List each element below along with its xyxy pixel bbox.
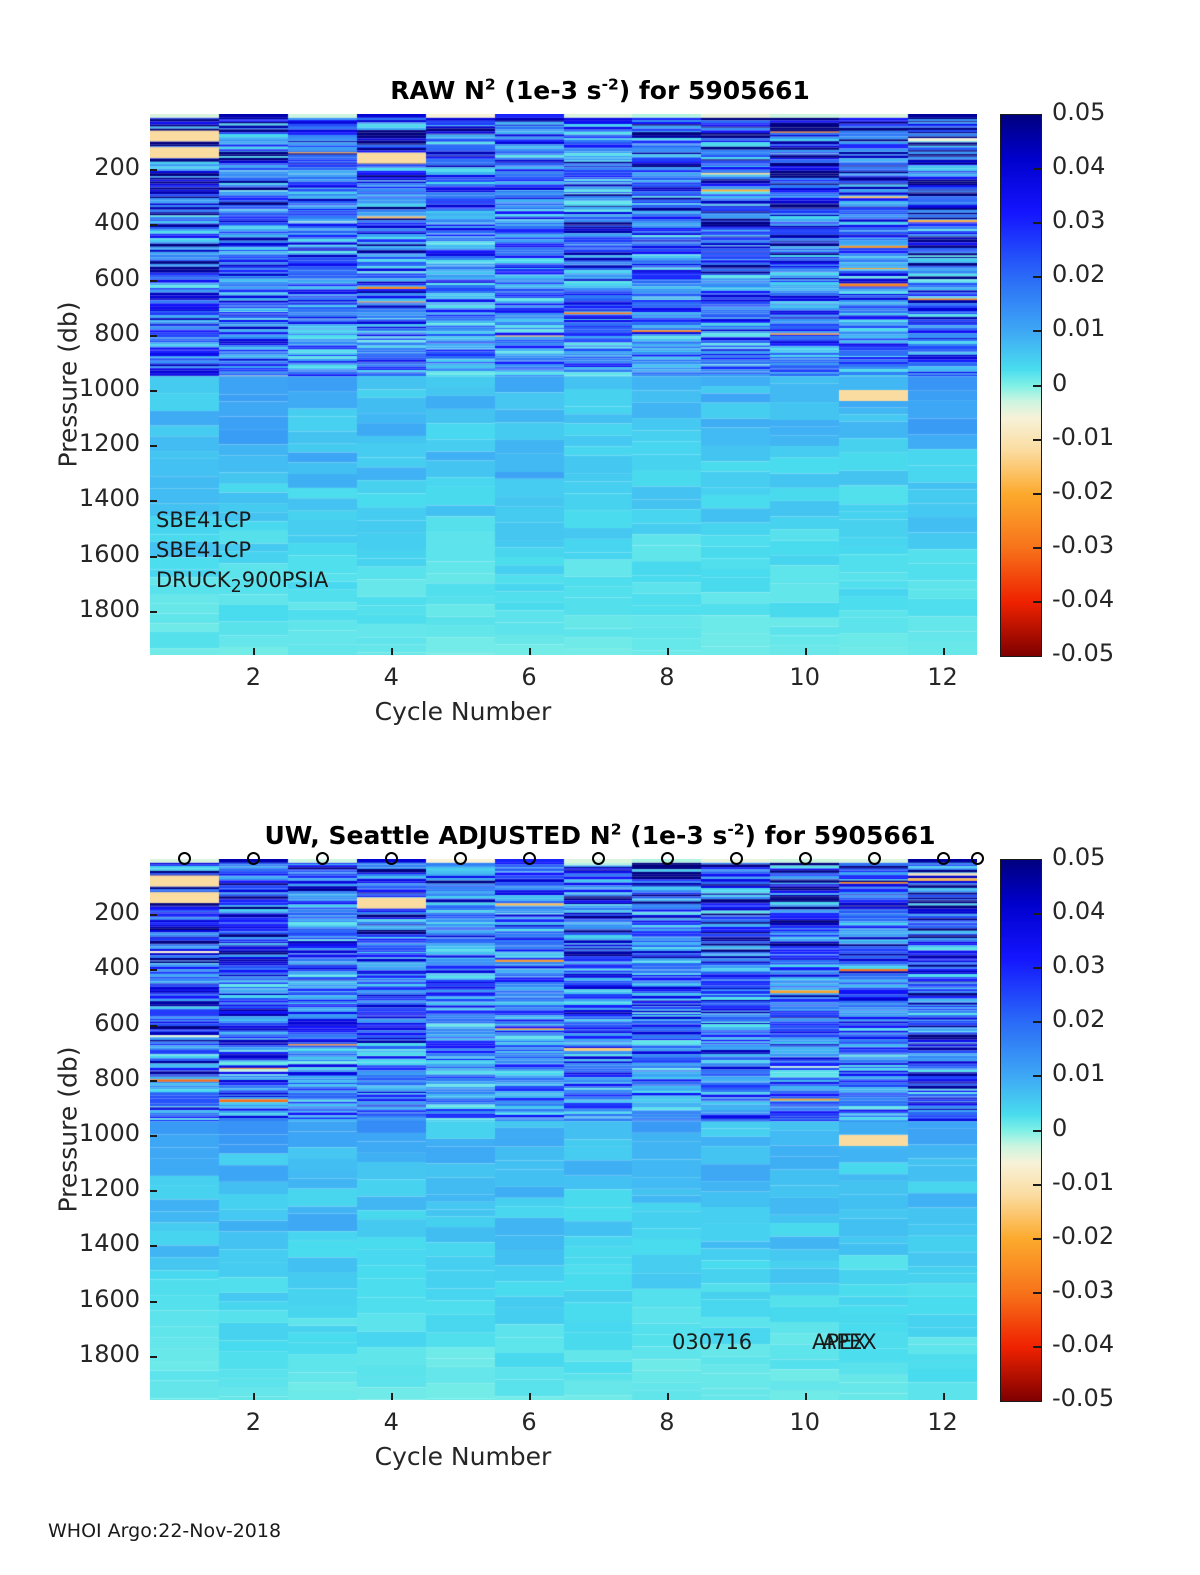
ytick-mark bbox=[150, 280, 157, 282]
ytick-mark bbox=[150, 1301, 157, 1303]
colorbar-tick-mark bbox=[1033, 1021, 1041, 1023]
colorbar-tick-label: -0.03 bbox=[1052, 531, 1114, 559]
colorbar-tick-mark bbox=[1033, 547, 1041, 549]
cycle-marker-icon bbox=[523, 852, 536, 865]
colorbar-tick-label: 0.01 bbox=[1052, 314, 1105, 342]
cycle-marker-icon bbox=[316, 852, 329, 865]
ytick-label: 1400 bbox=[2, 484, 140, 512]
colorbar-tick-label: -0.04 bbox=[1052, 585, 1114, 613]
title-main: ADJUSTED N bbox=[438, 821, 610, 850]
ytick-mark bbox=[150, 969, 157, 971]
colorbar-tick-mark bbox=[1033, 222, 1041, 224]
ytick-mark bbox=[150, 169, 157, 171]
cycle-marker-icon bbox=[247, 852, 260, 865]
colorbar-tick-label: -0.04 bbox=[1052, 1330, 1114, 1358]
title-superscript-neg2: -2 bbox=[727, 821, 744, 839]
colorbar-tick-mark bbox=[1033, 967, 1041, 969]
title-prefix: UW, Seattle bbox=[264, 821, 438, 850]
colorbar-tick-mark bbox=[1033, 1130, 1041, 1132]
ytick-mark bbox=[150, 1245, 157, 1247]
ytick-mark bbox=[150, 390, 157, 392]
ytick-mark bbox=[150, 500, 157, 502]
cycle-marker-icon bbox=[592, 852, 605, 865]
cycle-marker-icon bbox=[730, 852, 743, 865]
colorbar-tick-mark bbox=[1033, 493, 1041, 495]
ytick-label: 1200 bbox=[2, 1174, 140, 1202]
ytick-mark bbox=[150, 224, 157, 226]
ytick-label: 400 bbox=[2, 208, 140, 236]
xtick-mark bbox=[667, 1393, 669, 1400]
ytick-mark bbox=[150, 1025, 157, 1027]
cycle-markers-adjusted bbox=[150, 852, 977, 868]
cycle-marker-icon bbox=[178, 852, 191, 865]
xtick-label: 6 bbox=[489, 663, 569, 691]
xtick-label: 8 bbox=[627, 1408, 707, 1436]
ytick-label: 800 bbox=[2, 1064, 140, 1092]
ytick-mark bbox=[150, 335, 157, 337]
title-suffix: ) for 5905661 bbox=[619, 76, 810, 105]
title-superscript-neg2: -2 bbox=[602, 76, 619, 94]
colorbar-tick-label: 0 bbox=[1052, 369, 1067, 397]
sensor-label-1: SBE41CP bbox=[156, 505, 328, 535]
ytick-label: 600 bbox=[2, 264, 140, 292]
xtick-label: 2 bbox=[213, 1408, 293, 1436]
title-main: RAW N bbox=[390, 76, 485, 105]
colorbar-tick-mark bbox=[1033, 276, 1041, 278]
title-mid: (1e-3 s bbox=[621, 821, 727, 850]
colorbar-tick-label: -0.05 bbox=[1052, 1384, 1114, 1412]
cycle-marker-icon bbox=[971, 852, 984, 865]
panel-raw-sensor-annotations: SBE41CP SBE41CP DRUCK2900PSIA bbox=[156, 505, 328, 602]
ytick-mark bbox=[150, 1190, 157, 1192]
xtick-mark bbox=[943, 1393, 945, 1400]
colorbar-tick-label: -0.02 bbox=[1052, 1222, 1114, 1250]
ytick-mark bbox=[150, 914, 157, 916]
xtick-mark bbox=[391, 648, 393, 655]
xtick-mark bbox=[529, 648, 531, 655]
colorbar-tick-mark bbox=[1033, 168, 1041, 170]
title-mid: (1e-3 s bbox=[496, 76, 602, 105]
title-superscript-2: 2 bbox=[611, 821, 622, 839]
cycle-marker-icon bbox=[799, 852, 812, 865]
colorbar-tick-mark bbox=[1033, 1292, 1041, 1294]
cycle-marker-icon bbox=[661, 852, 674, 865]
ytick-label: 1000 bbox=[2, 1119, 140, 1147]
xtick-label: 12 bbox=[903, 1408, 983, 1436]
colorbar-tick-label: 0.05 bbox=[1052, 98, 1105, 126]
xtick-mark bbox=[805, 648, 807, 655]
colorbar-tick-label: 0.01 bbox=[1052, 1059, 1105, 1087]
xtick-mark bbox=[805, 1393, 807, 1400]
ytick-mark bbox=[150, 445, 157, 447]
title-suffix: ) for 5905661 bbox=[745, 821, 936, 850]
cycle-marker-icon bbox=[868, 852, 881, 865]
colorbar-tick-label: 0.04 bbox=[1052, 897, 1105, 925]
colorbar-tick-mark bbox=[1033, 385, 1041, 387]
annotation-wmo-date: 030716 bbox=[672, 1330, 752, 1354]
colorbar-tick-mark bbox=[1033, 1184, 1041, 1186]
ytick-mark bbox=[150, 1135, 157, 1137]
xtick-mark bbox=[943, 648, 945, 655]
xtick-label: 8 bbox=[627, 663, 707, 691]
ytick-mark bbox=[150, 1080, 157, 1082]
colorbar-tick-mark bbox=[1033, 913, 1041, 915]
ytick-label: 1200 bbox=[2, 429, 140, 457]
colorbar-tick-label: -0.01 bbox=[1052, 423, 1114, 451]
xtick-label: 4 bbox=[351, 1408, 431, 1436]
title-superscript-2: 2 bbox=[485, 76, 496, 94]
ytick-label: 1800 bbox=[2, 595, 140, 623]
ytick-mark bbox=[150, 1356, 157, 1358]
colorbar-tick-label: -0.05 bbox=[1052, 639, 1114, 667]
sensor-label-3: DRUCK2900PSIA bbox=[156, 565, 328, 602]
colorbar-tick-label: 0 bbox=[1052, 1114, 1067, 1142]
cycle-marker-icon bbox=[937, 852, 950, 865]
ytick-label: 200 bbox=[2, 898, 140, 926]
sensor-label-2: SBE41CP bbox=[156, 535, 328, 565]
colorbar-tick-label: -0.03 bbox=[1052, 1276, 1114, 1304]
panel-adjusted-title: UW, Seattle ADJUSTED N2 (1e-3 s-2) for 5… bbox=[0, 821, 1200, 850]
ytick-label: 400 bbox=[2, 953, 140, 981]
colorbar-tick-mark bbox=[1033, 1075, 1041, 1077]
xtick-label: 6 bbox=[489, 1408, 569, 1436]
ytick-label: 1800 bbox=[2, 1340, 140, 1368]
xtick-label: 10 bbox=[765, 663, 845, 691]
ytick-label: 600 bbox=[2, 1009, 140, 1037]
ytick-label: 1600 bbox=[2, 1285, 140, 1313]
ytick-label: 1400 bbox=[2, 1229, 140, 1257]
colorbar-tick-label: 0.02 bbox=[1052, 1005, 1105, 1033]
footer-credit: WHOI Argo:22-Nov-2018 bbox=[48, 1520, 281, 1542]
xtick-label: 10 bbox=[765, 1408, 845, 1436]
colorbar-tick-label: 0.05 bbox=[1052, 843, 1105, 871]
ytick-label: 1600 bbox=[2, 540, 140, 568]
xtick-label: 4 bbox=[351, 663, 431, 691]
cycle-marker-icon bbox=[454, 852, 467, 865]
colorbar-tick-label: 0.02 bbox=[1052, 260, 1105, 288]
annotation-float-type-2: APEX bbox=[822, 1330, 877, 1354]
colorbar-tick-label: 0.03 bbox=[1052, 951, 1105, 979]
ytick-label: 1000 bbox=[2, 374, 140, 402]
ytick-label: 200 bbox=[2, 153, 140, 181]
colorbar-tick-label: 0.03 bbox=[1052, 206, 1105, 234]
xtick-label: 12 bbox=[903, 663, 983, 691]
colorbar-tick-mark bbox=[1033, 601, 1041, 603]
panel-raw-title: RAW N2 (1e-3 s-2) for 5905661 bbox=[0, 76, 1200, 105]
panel-adjusted: UW, Seattle ADJUSTED N2 (1e-3 s-2) for 5… bbox=[0, 745, 1200, 1505]
ytick-mark bbox=[150, 611, 157, 613]
xtick-mark bbox=[391, 1393, 393, 1400]
colorbar-tick-label: -0.02 bbox=[1052, 477, 1114, 505]
xtick-label: 2 bbox=[213, 663, 293, 691]
colorbar-tick-label: -0.01 bbox=[1052, 1168, 1114, 1196]
xtick-mark bbox=[253, 1393, 255, 1400]
colorbar-tick-mark bbox=[1033, 1238, 1041, 1240]
xtick-mark bbox=[667, 648, 669, 655]
cycle-marker-icon bbox=[385, 852, 398, 865]
colorbar-tick-mark bbox=[1033, 1346, 1041, 1348]
colorbar-tick-label: 0.04 bbox=[1052, 152, 1105, 180]
heatmap-adjusted-canvas bbox=[150, 859, 977, 1400]
panel-adjusted-xlabel: Cycle Number bbox=[0, 1442, 1063, 1471]
ytick-label: 800 bbox=[2, 319, 140, 347]
xtick-mark bbox=[529, 1393, 531, 1400]
colorbar-tick-mark bbox=[1033, 439, 1041, 441]
panel-raw-xlabel: Cycle Number bbox=[0, 697, 1063, 726]
xtick-mark bbox=[253, 648, 255, 655]
panel-raw: RAW N2 (1e-3 s-2) for 5905661 Pressure (… bbox=[0, 0, 1200, 760]
colorbar-tick-mark bbox=[1033, 330, 1041, 332]
heatmap-adjusted bbox=[150, 859, 977, 1400]
